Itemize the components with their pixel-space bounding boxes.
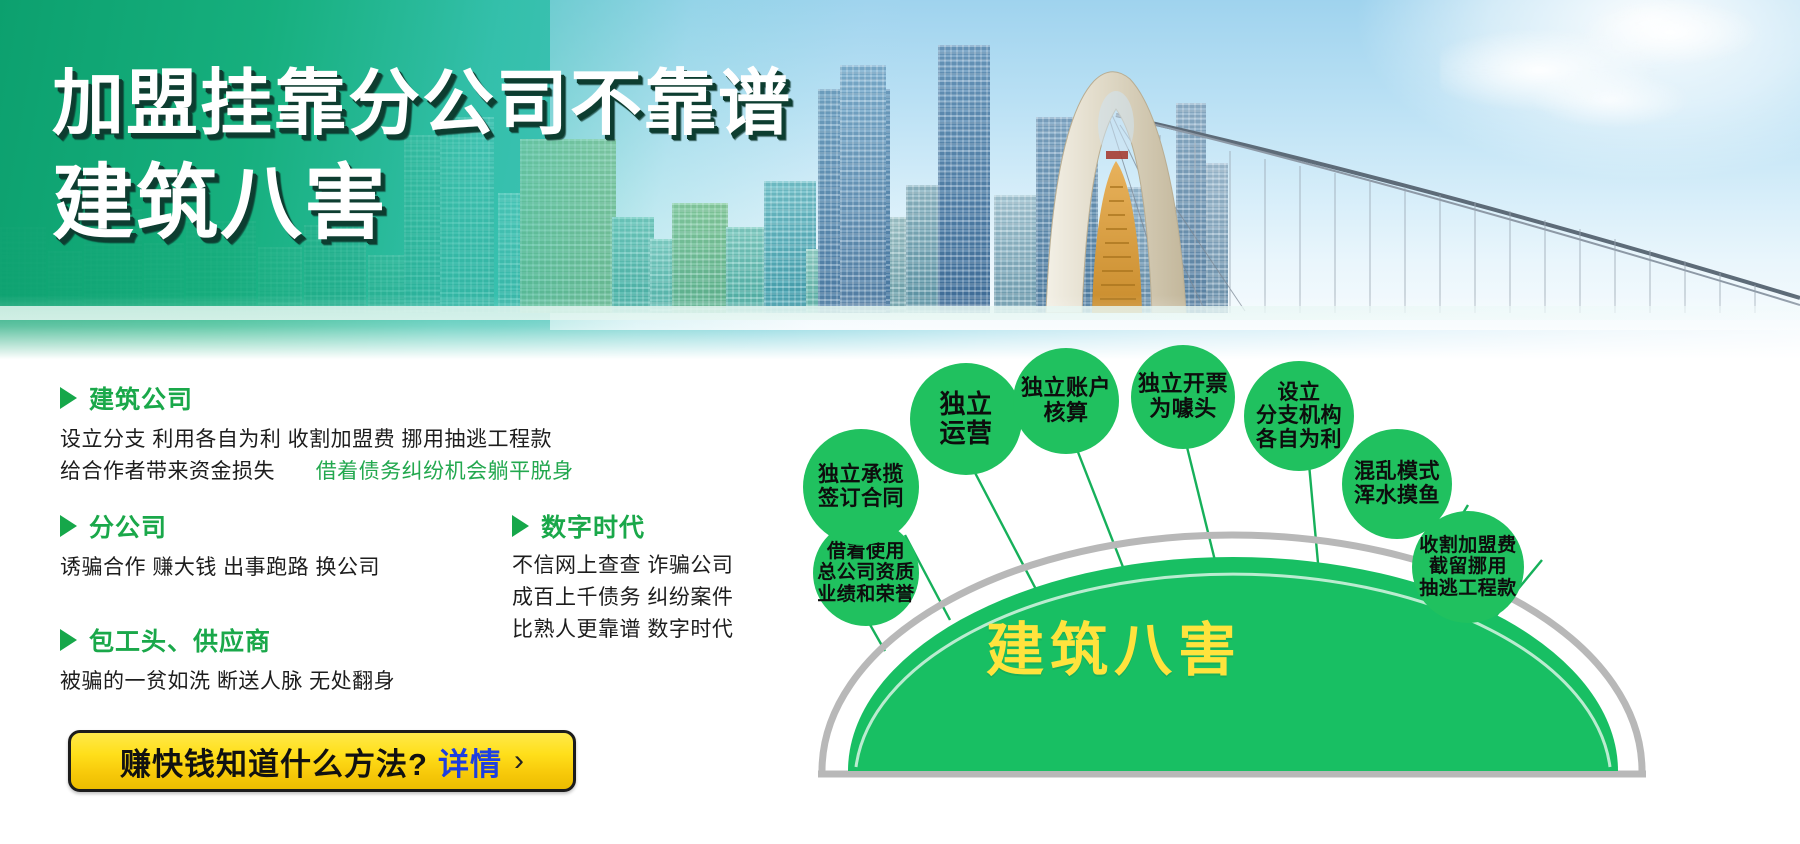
hero-title-line-2: 建筑八害: [52, 152, 792, 256]
section-body-construction-company: 设立分支 利用各自为利 收割加盟费 挪用抽逃工程款 给合作者带来资金损失 借着债…: [60, 424, 574, 488]
bubble-independent-account[interactable]: 独立账户核算: [1013, 348, 1119, 454]
body-line: 成百上千债务 纠纷案件: [512, 582, 733, 614]
bubble-independent-operation[interactable]: 独立运营: [910, 363, 1022, 475]
bubble-harvest-franchise-fee[interactable]: 收割加盟费截留挪用抽逃工程款: [1412, 511, 1524, 623]
cta-question-label: 赚快钱知道什么方法?: [120, 739, 428, 784]
poster-root: 加盟挂靠分公司不靠谱 建筑八害 建筑公司 设立分支 利用各自为利 收割加盟费 挪…: [0, 0, 1800, 844]
bubble-independent-invoice[interactable]: 独立开票为噱头: [1131, 345, 1235, 449]
triangle-bullet-icon: [60, 515, 77, 537]
body-line: 不信网上查查 诈骗公司: [512, 550, 733, 582]
section-heading-digital-era: 数字时代: [512, 508, 645, 544]
body-line: 设立分支 利用各自为利 收割加盟费 挪用抽逃工程款: [60, 424, 574, 456]
hero-banner: 加盟挂靠分公司不靠谱 建筑八害: [0, 0, 1800, 365]
bubble-branch-self-interest[interactable]: 设立分支机构各自为利: [1244, 361, 1354, 471]
section-heading-label: 数字时代: [541, 508, 645, 544]
eight-harms-diagram: 建筑八害 借着使用总公司资质业绩和荣誉 独立承揽签订合同 独立运营 独立账户核算…: [800, 335, 1800, 844]
section-heading-label: 建筑公司: [89, 380, 193, 416]
hero-title-line-1: 加盟挂靠分公司不靠谱: [52, 56, 792, 152]
body-line: 被骗的一贫如洗 断送人脉 无处翻身: [60, 666, 395, 698]
body-line-part: 给合作者带来资金损失: [60, 460, 275, 483]
body-line: 给合作者带来资金损失 借着债务纠纷机会躺平脱身: [60, 456, 574, 488]
body-line: 比熟人更靠谱 数字时代: [512, 614, 733, 646]
section-heading-label: 分公司: [89, 508, 167, 544]
cta-detail-link[interactable]: 详情: [438, 739, 502, 784]
triangle-bullet-icon: [60, 387, 77, 409]
triangle-bullet-icon: [60, 629, 77, 651]
cta-button[interactable]: 赚快钱知道什么方法? 详情 ›: [68, 730, 576, 792]
body-line-accent: 借着债务纠纷机会躺平脱身: [316, 460, 574, 483]
section-heading-construction-company: 建筑公司: [60, 380, 193, 416]
section-body-contractor-supplier: 被骗的一贫如洗 断送人脉 无处翻身: [60, 666, 395, 698]
dome-label: 建筑八害: [986, 603, 1242, 687]
hero-title: 加盟挂靠分公司不靠谱 建筑八害: [52, 56, 792, 256]
section-heading-branch-company: 分公司: [60, 508, 167, 544]
section-heading-label: 包工头、供应商: [89, 622, 271, 658]
section-heading-contractor-supplier: 包工头、供应商: [60, 622, 271, 658]
bridge-illustration: [1020, 63, 1800, 313]
left-content-column: 建筑公司 设立分支 利用各自为利 收割加盟费 挪用抽逃工程款 给合作者带来资金损…: [0, 378, 800, 844]
bubble-independent-contracting[interactable]: 独立承揽签订合同: [803, 429, 919, 545]
chevron-right-icon: ›: [514, 744, 524, 778]
triangle-bullet-icon: [512, 515, 529, 537]
body-line: 诱骗合作 赚大钱 出事跑路 换公司: [60, 552, 380, 584]
section-body-branch-company: 诱骗合作 赚大钱 出事跑路 换公司: [60, 552, 380, 584]
section-body-digital-era: 不信网上查查 诈骗公司 成百上千债务 纠纷案件 比熟人更靠谱 数字时代: [512, 550, 733, 646]
